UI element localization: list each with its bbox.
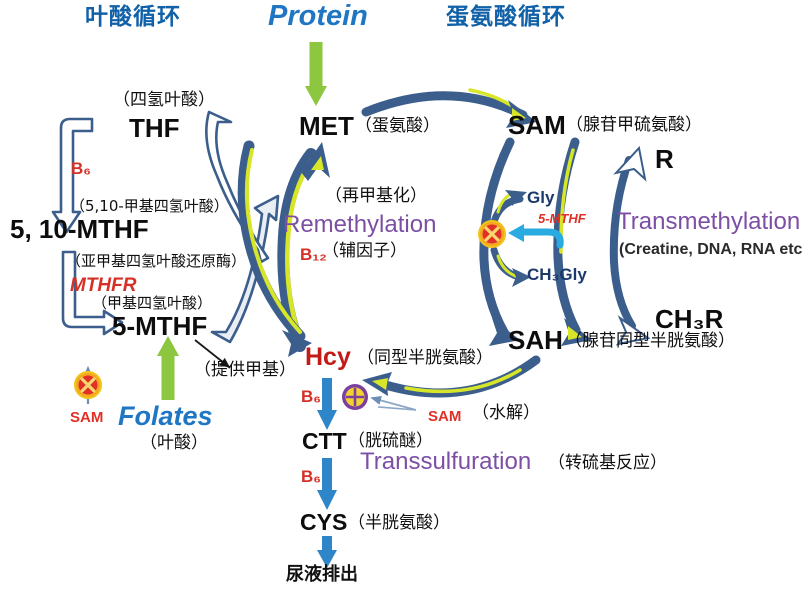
thf-gloss: （四氢叶酸）: [113, 92, 215, 109]
sam-activator-label: SAM: [428, 409, 461, 424]
5mthf-inhibitor-label: 5-MTHF: [538, 212, 586, 225]
title-methionine-cycle: 蛋氨酸循环: [446, 6, 566, 29]
block-icon-mthfr: [75, 372, 101, 398]
hcy-gloss: （同型半胱氨酸）: [357, 350, 493, 367]
b6-cofactor-cbs: B₆: [301, 388, 321, 405]
transsulfuration-label: Transsulfuration: [360, 450, 531, 474]
acceptor-r-label: R: [655, 146, 674, 172]
5mthf-label: 5-MTHF: [112, 313, 207, 339]
transmethylation-sub: (Creatine, DNA, RNA etc.): [619, 242, 803, 258]
title-protein: Protein: [268, 2, 368, 31]
cys-label: CYS: [300, 511, 347, 534]
arrow-5mthf-inhibits: [508, 224, 560, 245]
ch3gly-label: CH₃Gly: [527, 266, 587, 283]
met-label: MET: [299, 113, 354, 139]
block-icon-bhmt: [479, 221, 505, 247]
ch3r-label: CH₃R: [655, 306, 723, 332]
arrow-sam-to-sah-inner: [558, 142, 592, 346]
arrow-sam-activates-cbs: [372, 398, 416, 410]
arrow-sam-to-sah-outer: [484, 142, 520, 346]
arrow-cycle-left-down: [206, 112, 268, 262]
sam-activator-gloss: （水解）: [472, 405, 540, 422]
510mthf-gloss: （5,10-甲基四氢叶酸）: [70, 199, 229, 214]
gly-label: Gly: [527, 189, 554, 206]
arrow-gly-in: [494, 190, 527, 222]
arrow-protein-to-met: [305, 42, 327, 106]
transmethylation-label: Transmethylation: [617, 210, 800, 234]
sah-label: SAH: [508, 327, 563, 353]
b6-cofactor-thf: B₆: [71, 160, 91, 177]
cys-gloss: （半胱氨酸）: [348, 515, 450, 532]
sah-gloss: （腺苷同型半胱氨酸）: [565, 333, 735, 350]
5mthf-gloss: （甲基四氢叶酸）: [92, 296, 212, 311]
sam-label: SAM: [508, 112, 566, 138]
title-folate-cycle: 叶酸循环: [85, 6, 181, 29]
activation-icon-cbs: [342, 384, 368, 410]
mthfr-label: MTHFR: [70, 276, 136, 295]
methyl-donor-note: （提供甲基）: [194, 362, 296, 379]
arrow-ch3gly-out: [494, 250, 531, 287]
510mthf-label: 5, 10-MTHF: [10, 216, 149, 242]
mthfr-gloss: （亚甲基四氢叶酸还原酶）: [66, 254, 246, 269]
remethylation-label: Remethylation: [283, 213, 436, 237]
ctt-label: CTT: [302, 430, 347, 453]
folates-label: Folates: [118, 403, 213, 430]
sam-gloss: （腺苷甲硫氨酸）: [566, 117, 702, 134]
met-gloss: （蛋氨酸）: [355, 118, 440, 135]
transsulfuration-gloss: （转硫基反应）: [548, 455, 667, 472]
sam-inhibitor-label: SAM: [70, 410, 103, 425]
arrow-folates-to-5mthf: [157, 336, 179, 400]
urine-excretion-label: 尿液排出: [286, 566, 358, 584]
pathway-diagram: 叶酸循环 Protein 蛋氨酸循环 （四氢叶酸） THF B₆ （5,10-甲…: [0, 0, 803, 593]
hcy-label: Hcy: [305, 345, 351, 370]
thf-label: THF: [129, 115, 180, 141]
folates-gloss: （叶酸）: [140, 435, 208, 452]
b12-cofactor-gloss: （辅因子）: [322, 243, 407, 260]
remethylation-gloss: （再甲基化）: [325, 188, 427, 205]
b6-cofactor-cgl: B₆: [301, 468, 321, 485]
